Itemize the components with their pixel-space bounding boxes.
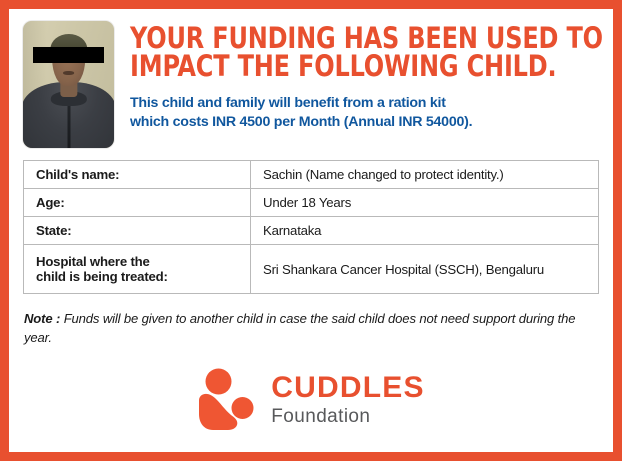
subhead-line-2: which costs INR 4500 per Month (Annual I… bbox=[130, 113, 599, 132]
row-label-age: Age: bbox=[24, 189, 251, 217]
parent-child-figure-icon bbox=[197, 368, 257, 432]
row-value-hospital: Sri Shankara Cancer Hospital (SSCH), Ben… bbox=[251, 245, 599, 294]
privacy-bar-icon bbox=[33, 47, 104, 63]
brand-name: CUDDLES bbox=[271, 373, 424, 403]
table-row: Child's name: Sachin (Name changed to pr… bbox=[24, 161, 599, 189]
row-label-hospital-line-2: child is being treated: bbox=[36, 269, 250, 284]
funding-impact-card: YOUR FUNDING HAS BEEN USED TO IMPACT THE… bbox=[0, 0, 622, 461]
note-body: Funds will be given to another child in … bbox=[24, 311, 575, 345]
header-text-block: YOUR FUNDING HAS BEEN USED TO IMPACT THE… bbox=[130, 21, 599, 132]
row-label-child-name: Child's name: bbox=[24, 161, 251, 189]
row-value-child-name: Sachin (Name changed to protect identity… bbox=[251, 161, 599, 189]
brand-logo: CUDDLES Foundation bbox=[23, 368, 599, 432]
row-label-hospital-line-1: Hospital where the bbox=[36, 254, 150, 269]
table-row: Hospital where the child is being treate… bbox=[24, 245, 599, 294]
page-subtitle: This child and family will benefit from … bbox=[130, 94, 599, 132]
photo-moustache bbox=[63, 71, 75, 75]
child-photo bbox=[23, 21, 114, 148]
card-inner: YOUR FUNDING HAS BEEN USED TO IMPACT THE… bbox=[9, 9, 613, 452]
headline-line-2: IMPACT THE FOLLOWING CHILD. bbox=[130, 53, 561, 81]
subhead-line-1: This child and family will benefit from … bbox=[130, 95, 446, 111]
row-label-hospital: Hospital where the child is being treate… bbox=[24, 245, 251, 294]
note-prefix: Note : bbox=[24, 311, 60, 326]
row-value-age: Under 18 Years bbox=[251, 189, 599, 217]
table-row: Age: Under 18 Years bbox=[24, 189, 599, 217]
brand-subtitle: Foundation bbox=[271, 407, 424, 426]
page-title: YOUR FUNDING HAS BEEN USED TO IMPACT THE… bbox=[130, 25, 561, 81]
row-label-state: State: bbox=[24, 217, 251, 245]
card-header: YOUR FUNDING HAS BEEN USED TO IMPACT THE… bbox=[23, 21, 599, 148]
child-details-table: Child's name: Sachin (Name changed to pr… bbox=[23, 160, 599, 294]
table-row: State: Karnataka bbox=[24, 217, 599, 245]
row-value-state: Karnataka bbox=[251, 217, 599, 245]
brand-wordmark: CUDDLES Foundation bbox=[271, 373, 424, 426]
note-text: Note : Funds will be given to another ch… bbox=[24, 310, 598, 348]
